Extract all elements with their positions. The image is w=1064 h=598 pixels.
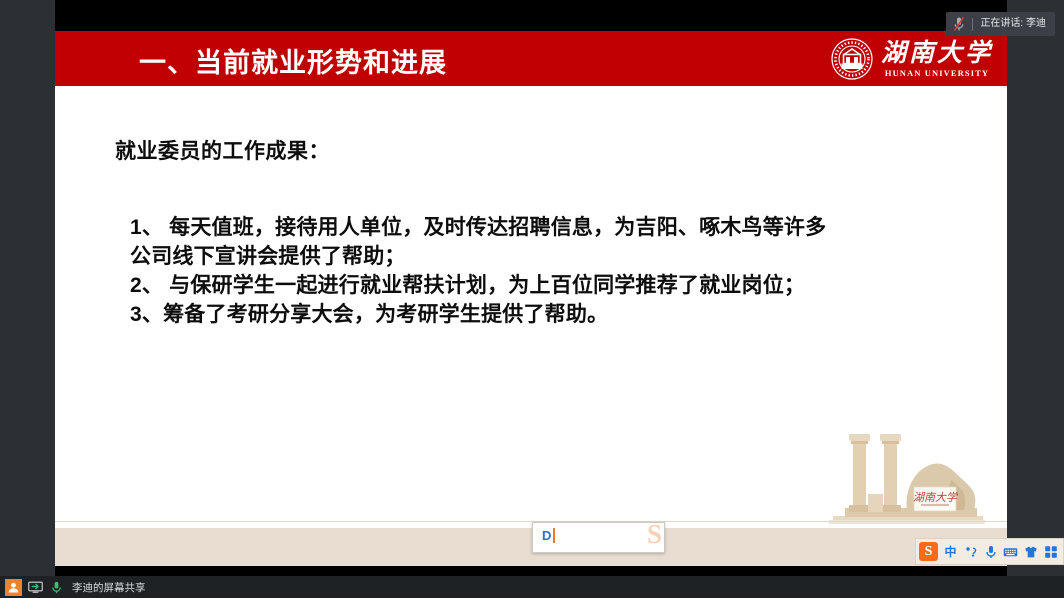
slide-body-heading: 就业委员的工作成果： <box>115 135 330 165</box>
input-mode-toggle[interactable]: 中 <box>943 543 958 560</box>
hunan-university-logo: 湖南大学 HUNAN UNIVERSITY <box>831 35 993 83</box>
taskbar-share-label: 李迪的屏幕共享 <box>72 580 146 595</box>
soft-keyboard-icon[interactable] <box>1003 543 1018 560</box>
screen-share-icon[interactable] <box>28 580 43 595</box>
voice-input-icon[interactable] <box>983 543 998 560</box>
participant-icon[interactable] <box>5 579 22 596</box>
university-seal-icon <box>831 38 873 80</box>
microphone-icon[interactable] <box>49 580 64 595</box>
university-name-en: HUNAN UNIVERSITY <box>885 69 989 78</box>
letterbox-top <box>55 0 1007 31</box>
active-speaker-indicator[interactable]: 正在讲话: 李迪 <box>946 12 1055 36</box>
bullet-item-3: 3、筹备了考研分享大会，为考研学生提供了帮助。 <box>130 300 845 329</box>
speaker-divider <box>972 18 973 31</box>
sogou-logo-icon[interactable]: S <box>919 542 938 561</box>
university-wordmark: 湖南大学 HUNAN UNIVERSITY <box>881 41 993 78</box>
ime-composition-window[interactable]: S D <box>532 522 665 553</box>
slide-hairline <box>55 521 1007 522</box>
toolbox-icon[interactable] <box>1043 543 1058 560</box>
bullet-item-2: 2、 与保研学生一起进行就业帮扶计划，为上百位同学推荐了就业岗位； <box>130 271 845 300</box>
text-caret <box>553 528 555 543</box>
skin-icon[interactable] <box>1023 543 1038 560</box>
mic-muted-icon <box>953 16 965 32</box>
slide-bottom-band <box>55 528 1007 566</box>
sogou-watermark-icon: S <box>647 522 662 550</box>
ime-composition-text: D <box>542 528 551 543</box>
letterbox-bottom <box>55 566 1007 576</box>
active-speaker-label: 正在讲话: 李迪 <box>980 19 1046 29</box>
bullet-item-1: 1、 每天值班，接待用人单位，及时传达招聘信息，为吉阳、啄木鸟等许多公司线下宣讲… <box>130 213 845 271</box>
punctuation-toggle-icon[interactable] <box>963 543 978 560</box>
ime-status-toolbar[interactable]: S 中 <box>915 538 1064 565</box>
slide-title: 一、当前就业形势和进展 <box>139 41 447 80</box>
campus-artwork: 湖南大学 <box>811 420 989 528</box>
svg-text:湖南大学: 湖南大学 <box>913 491 959 504</box>
meeting-taskbar[interactable]: 李迪的屏幕共享 <box>0 576 1064 598</box>
university-name-cn: 湖南大学 <box>881 41 993 66</box>
shared-slide[interactable]: 一、当前就业形势和进展 湖南大学 HUNAN UNIVERSITY 就业委员的工… <box>55 31 1007 566</box>
slide-bullet-list: 1、 每天值班，接待用人单位，及时传达招聘信息，为吉阳、啄木鸟等许多公司线下宣讲… <box>130 213 845 329</box>
